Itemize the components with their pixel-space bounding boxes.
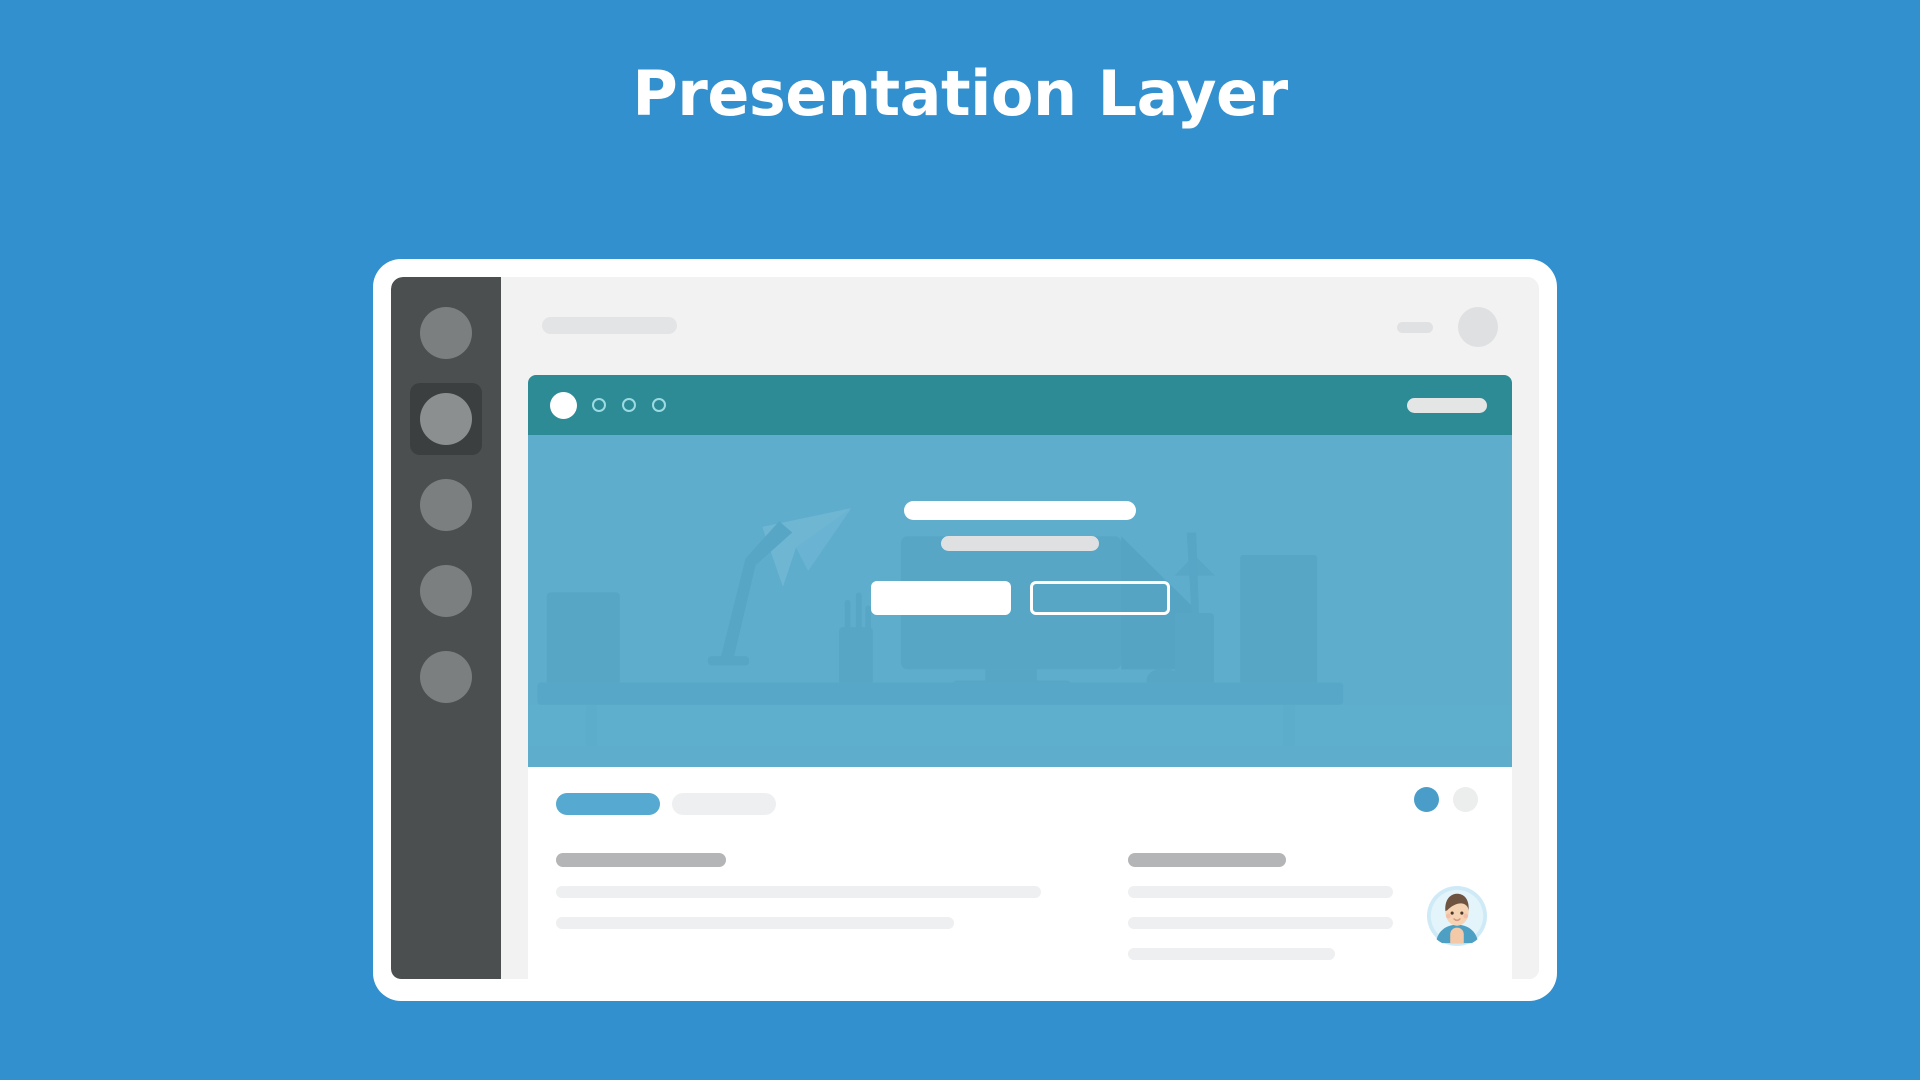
sidebar-item-1[interactable]: [410, 297, 482, 369]
ring-circle-icon[interactable]: [622, 398, 636, 412]
ring-circle-icon[interactable]: [652, 398, 666, 412]
browser-window: [528, 375, 1512, 979]
carousel-dots: [1414, 787, 1478, 812]
circle-nav-icon: [420, 479, 472, 531]
hero-primary-button[interactable]: [871, 581, 1011, 615]
text-line: [556, 886, 1041, 898]
text-line: [1128, 886, 1393, 898]
text-line: [556, 917, 954, 929]
circle-nav-icon: [420, 307, 472, 359]
tab-two[interactable]: [672, 793, 776, 815]
circle-nav-icon: [420, 393, 472, 445]
page-content: [528, 767, 1512, 979]
text-line: [1128, 948, 1335, 960]
user-portrait-icon: [1426, 885, 1488, 947]
hero-section: [528, 435, 1512, 767]
sidebar-item-4[interactable]: [410, 555, 482, 627]
circle-nav-icon: [420, 565, 472, 617]
address-bar[interactable]: [1407, 398, 1487, 413]
right-text-column: [1128, 853, 1393, 960]
minimize-icon[interactable]: [1397, 322, 1433, 333]
hero-subheadline-placeholder: [941, 536, 1099, 551]
device-screen: [391, 277, 1539, 979]
page-title: Presentation Layer: [0, 60, 1920, 128]
app-bar: [501, 277, 1539, 375]
device-frame: [373, 259, 1557, 1001]
hero-content: [528, 501, 1512, 615]
sidebar-item-2[interactable]: [410, 383, 482, 455]
carousel-dot-inactive[interactable]: [1453, 787, 1478, 812]
hero-headline-placeholder: [904, 501, 1136, 520]
ring-circle-icon[interactable]: [592, 398, 606, 412]
app-navigation-rail: [391, 277, 501, 979]
sidebar-item-3[interactable]: [410, 469, 482, 541]
profile-avatar-icon[interactable]: [1458, 307, 1498, 347]
filled-circle-icon[interactable]: [550, 392, 577, 419]
app-bar-title-placeholder: [542, 317, 677, 334]
app-main-area: [501, 277, 1539, 979]
browser-chrome-bar: [528, 375, 1512, 435]
left-text-column: [556, 853, 1041, 929]
column-heading-placeholder: [1128, 853, 1286, 867]
text-line: [1128, 917, 1393, 929]
hero-secondary-button[interactable]: [1030, 581, 1170, 615]
column-heading-placeholder: [556, 853, 726, 867]
circle-nav-icon: [420, 651, 472, 703]
tab-bar: [556, 793, 776, 815]
carousel-dot-active[interactable]: [1414, 787, 1439, 812]
hero-button-group: [871, 581, 1170, 615]
person-avatar[interactable]: [1426, 885, 1488, 947]
tab-one[interactable]: [556, 793, 660, 815]
sidebar-item-5[interactable]: [410, 641, 482, 713]
